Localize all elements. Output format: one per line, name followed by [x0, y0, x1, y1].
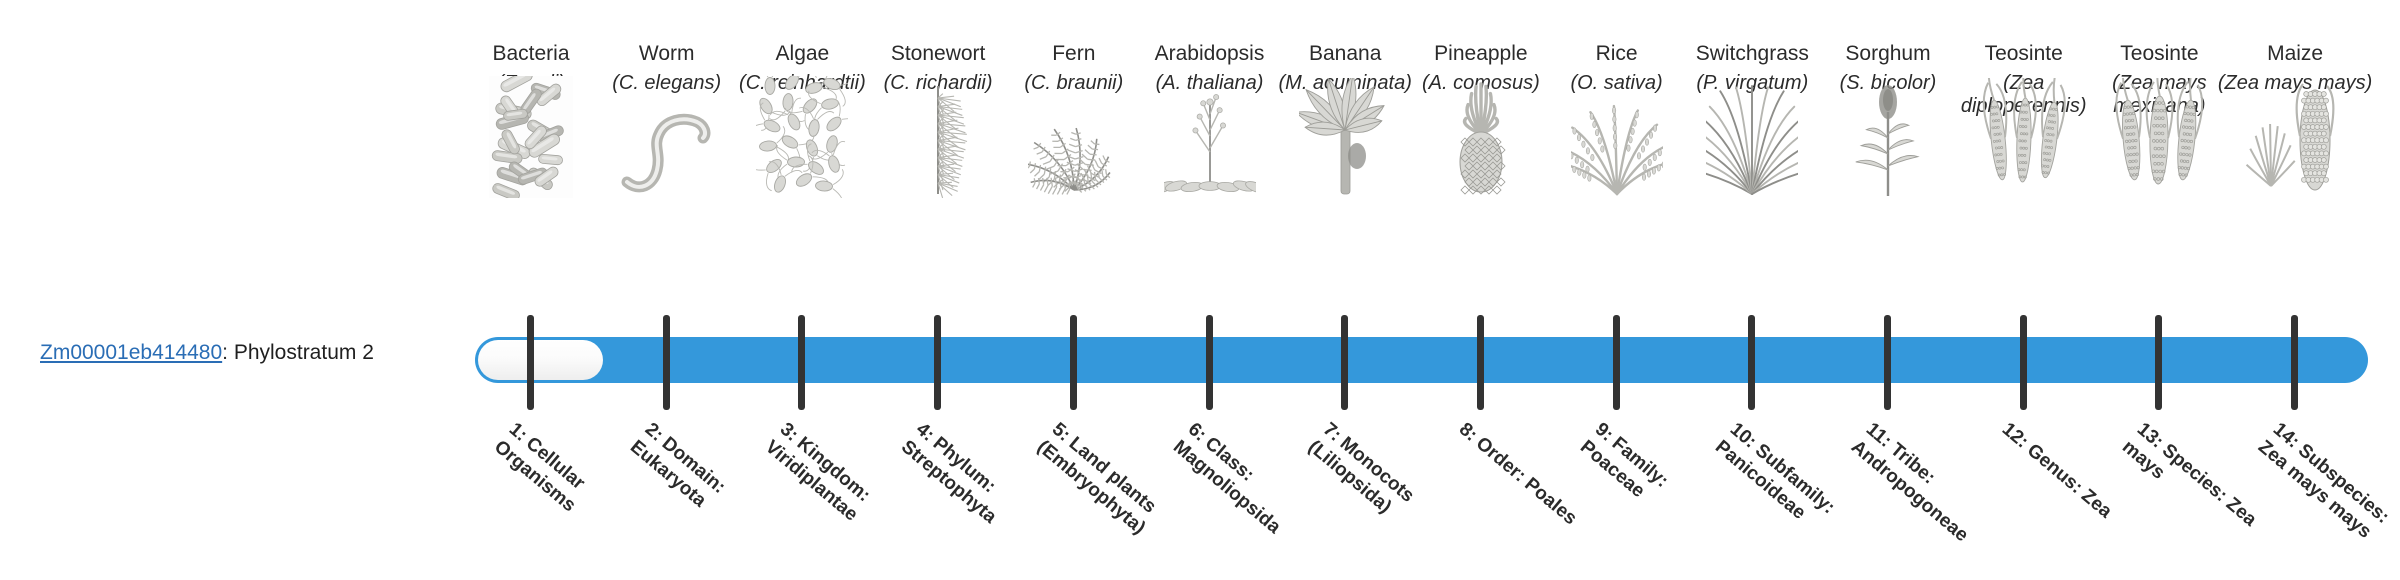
- banana-icon: [1277, 108, 1413, 198]
- phylostratum-tick-7: [1341, 315, 1348, 410]
- species-column-worm-2: Worm(C. elegans)2: Domain: Eukaryota: [599, 0, 735, 580]
- species-column-teosinte-12: Teosinte(Zea diploperennis)12: Genus: Ze…: [1956, 0, 2092, 580]
- species-column-maize-14: Maize(Zea mays mays)14: Subspecies: Zea …: [2227, 0, 2363, 580]
- species-common-name: Maize: [2215, 42, 2375, 66]
- species-column-banana-7: Banana(M. acuminata)7: Monocots (Liliops…: [1277, 0, 1413, 580]
- phylostratum-tick-2: [663, 315, 670, 410]
- phylostratum-tick-4: [934, 315, 941, 410]
- phylostratum-rank-label: 14: Subspecies: Zea mays mays: [2254, 418, 2398, 550]
- phylostratum-tick-8: [1477, 315, 1484, 410]
- phylostratum-figure: Zm00001eb414480: Phylostratum 2 Bacteria…: [0, 0, 2400, 580]
- fern-icon: [1006, 108, 1142, 198]
- phylostratum-tick-5: [1070, 315, 1077, 410]
- phylostratum-tick-13: [2155, 315, 2162, 410]
- stonewort-icon: [870, 108, 1006, 198]
- arabidopsis-icon: [1142, 108, 1278, 198]
- pineapple-icon: [1413, 108, 1549, 198]
- species-column-pineapple-8: Pineapple(A. comosus)8: Order: Poales: [1413, 0, 1549, 580]
- species-column-switchgrass-10: Switchgrass(P. virgatum)10: Subfamily: P…: [1684, 0, 1820, 580]
- phylostratum-tick-1: [527, 315, 534, 410]
- sorghum-icon: [1820, 108, 1956, 198]
- species-column-teosinte-13: Teosinte(Zea mays mexicana)13: Species: …: [2091, 0, 2227, 580]
- species-column-sorghum-11: Sorghum(S. bicolor)11: Tribe: Andropogon…: [1820, 0, 1956, 580]
- species-column-arabidopsis-6: Arabidopsis(A. thaliana)6: Class: Magnol…: [1142, 0, 1278, 580]
- maize-icon: [2227, 108, 2363, 198]
- phylostratum-tick-3: [798, 315, 805, 410]
- species-column-rice-9: Rice(O. sativa)9: Family: Poaceae: [1549, 0, 1685, 580]
- teosinte-diplo-icon: [1956, 108, 2092, 198]
- species-column-bacteria-1: Bacteria(E. coli)1: Cellular Organisms: [463, 0, 599, 580]
- species-column-algae-3: Algae(C. reinhardtii)3: Kingdom: Viridip…: [734, 0, 870, 580]
- phylostratum-tick-9: [1613, 315, 1620, 410]
- species-column-fern-5: Fern(C. braunii)5: Land plants (Embryoph…: [1006, 0, 1142, 580]
- algae-icon: [734, 108, 870, 198]
- worm-icon: [599, 108, 735, 198]
- phylostratum-tick-12: [2020, 315, 2027, 410]
- species-column-stonewort-4: Stonewort(C. richardii)4: Phylum: Strept…: [870, 0, 1006, 580]
- phylostratum-tick-6: [1206, 315, 1213, 410]
- species-columns: Bacteria(E. coli)1: Cellular OrganismsWo…: [0, 0, 2400, 580]
- phylostratum-tick-14: [2291, 315, 2298, 410]
- teosinte-mexicana-icon: [2091, 108, 2227, 198]
- switchgrass-icon: [1684, 108, 1820, 198]
- bacteria-icon: [463, 108, 599, 198]
- phylostratum-tick-10: [1748, 315, 1755, 410]
- phylostratum-tick-11: [1884, 315, 1891, 410]
- rice-icon: [1549, 108, 1685, 198]
